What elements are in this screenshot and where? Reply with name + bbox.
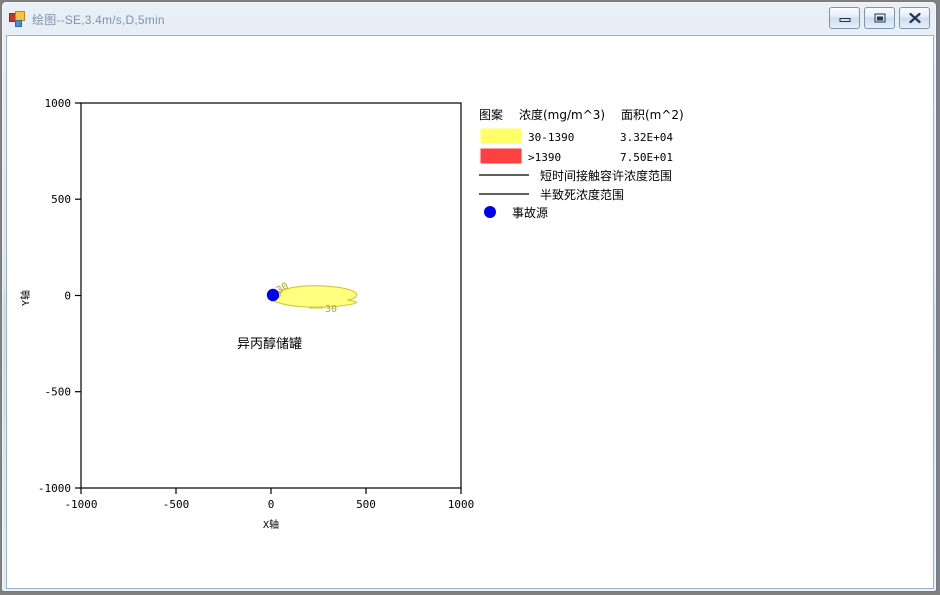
- x-tick-label: 1000: [448, 498, 475, 511]
- y-tick-label: 500: [51, 193, 71, 206]
- x-axis-ticks: -1000 -500 0 500 1000: [64, 488, 474, 511]
- app-squares-icon: [9, 11, 25, 27]
- title-bar[interactable]: 绘图--SE,3.4m/s,D,5min: [2, 2, 936, 36]
- minimize-button[interactable]: [829, 7, 860, 29]
- legend-label-source: 事故源: [512, 205, 548, 220]
- plot-client-area: 1000 500 0 -500 -1000 -1000 -500 0 50: [6, 35, 934, 589]
- y-tick-label: -500: [45, 386, 72, 399]
- x-tick-label: 500: [356, 498, 376, 511]
- legend-area-1: 7.50E+01: [620, 151, 673, 164]
- window-controls: [829, 7, 930, 29]
- legend-header-concentration: 浓度(mg/m^3): [519, 107, 605, 122]
- x-axis-title: X轴: [263, 518, 279, 531]
- accident-source-label: 异丙醇储罐: [237, 336, 302, 352]
- x-tick-label: -500: [163, 498, 190, 511]
- legend-header-area: 面积(m^2): [621, 108, 684, 122]
- legend-swatch-yellow: [481, 129, 521, 143]
- legend-area-0: 3.32E+04: [620, 131, 673, 144]
- legend-concentration-0: 30-1390: [528, 131, 574, 144]
- plot-canvas[interactable]: 1000 500 0 -500 -1000 -1000 -500 0 50: [7, 36, 934, 589]
- y-tick-label: 0: [64, 290, 71, 303]
- legend-label-stel: 短时间接触容许浓度范围: [540, 168, 672, 183]
- y-tick-label: 1000: [45, 97, 72, 110]
- y-axis-title: Y轴: [19, 290, 32, 306]
- legend: 图案 浓度(mg/m^3) 面积(m^2) 30-1390 3.32E+04 >…: [479, 107, 684, 220]
- maximize-icon: [873, 13, 886, 24]
- x-tick-label: 0: [268, 498, 275, 511]
- window-title: 绘图--SE,3.4m/s,D,5min: [32, 11, 165, 28]
- minimize-icon: [838, 13, 851, 23]
- accident-source-point[interactable]: [267, 289, 279, 301]
- maximize-button[interactable]: [864, 7, 895, 29]
- close-icon: [908, 13, 921, 24]
- contour-label-30-lower: 30: [325, 304, 337, 315]
- legend-concentration-1: >1390: [528, 151, 561, 164]
- x-tick-label: -1000: [64, 498, 97, 511]
- legend-swatch-red: [481, 149, 521, 163]
- legend-dot-marker-source: [484, 206, 496, 218]
- y-axis-ticks: 1000 500 0 -500 -1000: [38, 97, 81, 495]
- y-tick-label: -1000: [38, 482, 71, 495]
- application-window: 绘图--SE,3.4m/s,D,5min: [0, 0, 940, 595]
- legend-header-pattern: 图案: [479, 107, 503, 122]
- close-button[interactable]: [899, 7, 930, 29]
- window-frame: 绘图--SE,3.4m/s,D,5min: [1, 1, 937, 592]
- legend-label-lc50: 半致死浓度范围: [540, 187, 624, 202]
